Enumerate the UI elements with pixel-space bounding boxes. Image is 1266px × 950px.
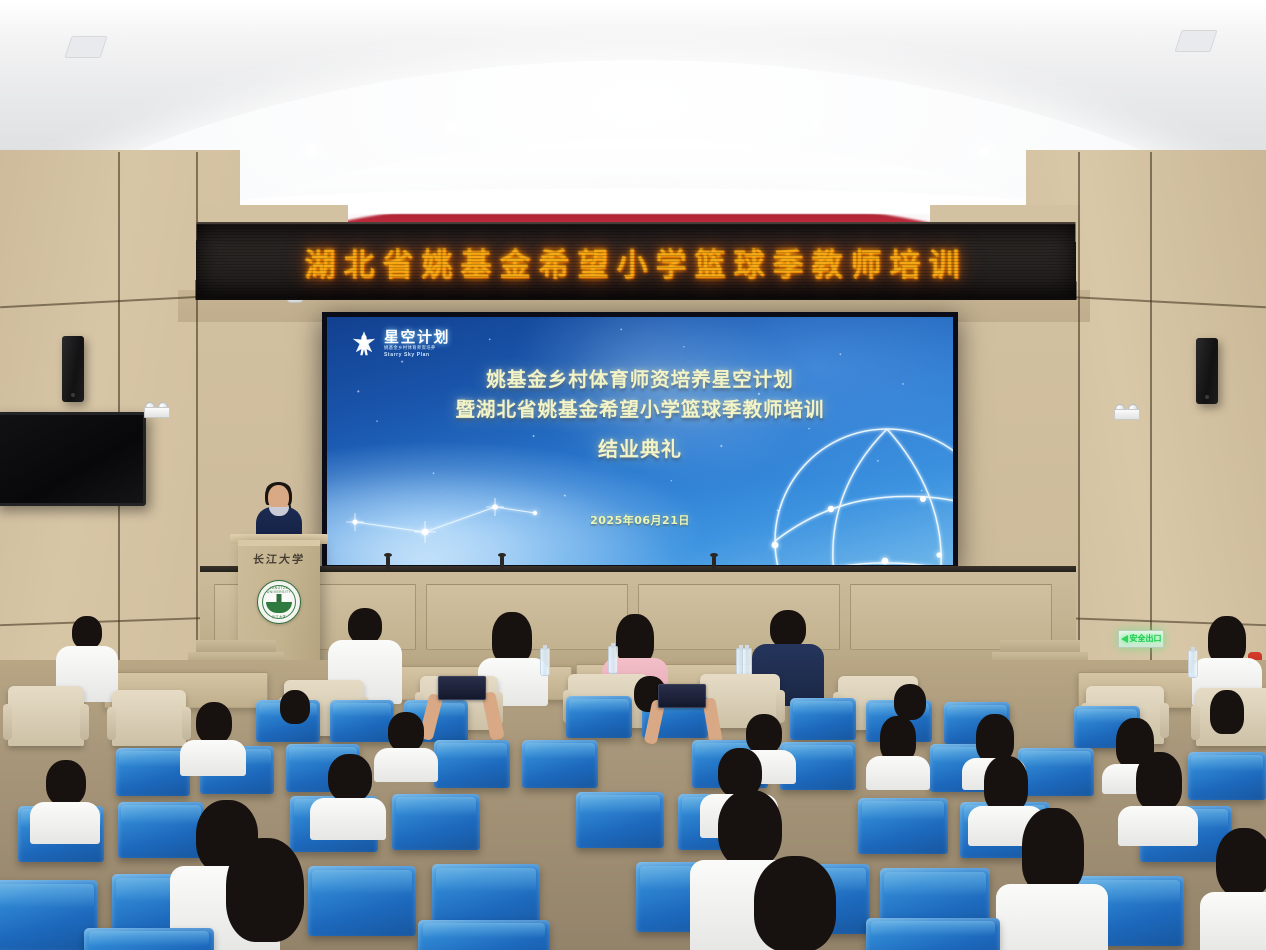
screen-date: 2025年06月21日 xyxy=(327,512,953,528)
ceiling-vent-right xyxy=(1174,30,1217,52)
seat xyxy=(522,740,598,788)
phone-recording-2 xyxy=(658,684,706,708)
water-bottle-1 xyxy=(540,648,550,676)
stage-microphone-2 xyxy=(386,556,390,569)
stage-step-left xyxy=(196,640,276,652)
seat xyxy=(392,794,480,850)
exit-arrow-icon xyxy=(1121,635,1128,643)
exit-sign-label: 安全出口 xyxy=(1130,635,1162,643)
emblem-text-bottom: 长江大学 xyxy=(258,614,300,619)
stage-microphone-4 xyxy=(712,556,716,569)
downlight-2 xyxy=(306,145,319,155)
seat xyxy=(434,740,510,788)
screen-title-line1: 姚基金乡村体育师资培养星空计划 xyxy=(327,363,953,392)
seat xyxy=(116,748,190,796)
seat xyxy=(858,798,948,854)
logo-subtitle-cn: 姚基金乡村体育师资培养 xyxy=(384,347,450,351)
emblem-text-top: YANGTZE UNIVERSITY xyxy=(258,586,300,594)
starry-sky-plan-logo: 星空计划 姚基金乡村体育师资培养 Starry Sky Plan xyxy=(349,329,450,359)
logo-name-en: Starry Sky Plan xyxy=(384,353,450,358)
audience-person-d3 xyxy=(996,808,1108,950)
downlight-6 xyxy=(978,146,991,156)
armchair-2 xyxy=(112,690,186,746)
screen-title-line2: 暨湖北省姚基金希望小学篮球季教师培训 xyxy=(327,393,953,422)
seat xyxy=(418,920,550,950)
projection-screen: 星空计划 姚基金乡村体育师资培养 Starry Sky Plan 姚基金乡村体育… xyxy=(327,317,953,565)
emergency-light-left xyxy=(144,402,168,418)
water-bottle-4 xyxy=(1188,650,1198,678)
audience-person-d4 xyxy=(1200,828,1266,950)
audience-person-b1 xyxy=(180,702,246,772)
audience-person-a1 xyxy=(266,690,322,746)
downlight-4 xyxy=(628,117,641,127)
stage-step-right xyxy=(1000,640,1080,652)
audience-person-e2 xyxy=(718,856,868,950)
phone-recording-1 xyxy=(438,676,486,700)
speaker-box-left xyxy=(62,336,84,402)
water-bottle-5 xyxy=(742,648,752,676)
audience-person-c5 xyxy=(30,760,100,842)
audience-person-b4 xyxy=(866,716,930,786)
screen-title-line3: 结业典礼 xyxy=(327,433,953,462)
university-emblem: YANGTZE UNIVERSITY 长江大学 xyxy=(257,580,301,624)
audience-person-a4 xyxy=(1196,690,1254,754)
auditorium-scene: 安全出口 湖北省姚基金希望小学篮球季教师培训 xyxy=(0,0,1266,950)
speaker-at-podium xyxy=(256,485,302,541)
wall-tv-monitor xyxy=(0,412,146,506)
projection-screen-frame: 星空计划 姚基金乡村体育师资培养 Starry Sky Plan 姚基金乡村体育… xyxy=(322,312,958,570)
ceiling-vent-left xyxy=(64,36,107,58)
podium-institution-label: 长江大学 xyxy=(243,551,315,567)
seat xyxy=(576,792,664,848)
wall-corner-right xyxy=(1078,152,1080,712)
led-banner-text: 湖北省姚基金希望小学篮球季教师培训 xyxy=(304,239,967,284)
seat xyxy=(84,928,214,950)
wall-seam-right-v xyxy=(1150,152,1152,712)
audience-person-c4 xyxy=(1118,752,1198,842)
armchair-1 xyxy=(8,686,84,746)
audience-person-c1 xyxy=(310,754,386,838)
logo-name-cn: 星空计划 xyxy=(384,330,450,345)
speaker-box-right xyxy=(1196,338,1218,404)
audience-person-e1 xyxy=(196,838,332,950)
emergency-light-right xyxy=(1114,404,1138,420)
star-person-icon xyxy=(349,329,379,359)
seat xyxy=(790,698,856,740)
stage-microphone-3 xyxy=(500,556,504,569)
led-banner: 湖北省姚基金希望小学篮球季教师培训 xyxy=(196,222,1077,300)
seat xyxy=(866,918,1000,950)
downlight-3 xyxy=(446,122,459,132)
seat xyxy=(1188,752,1266,800)
downlight-5 xyxy=(810,122,823,132)
water-bottle-2 xyxy=(608,646,618,674)
exit-sign-icon: 安全出口 xyxy=(1118,630,1164,648)
